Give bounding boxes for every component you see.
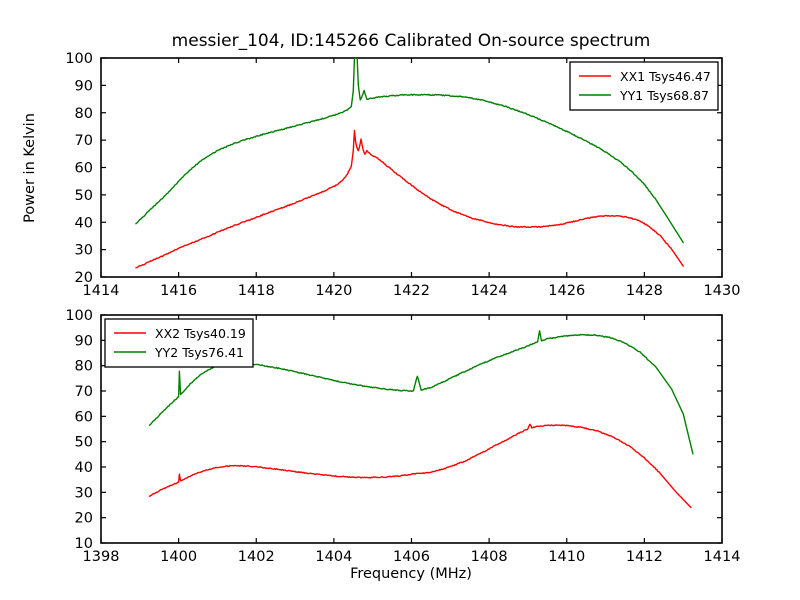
x-tick-label: 1428 (626, 283, 663, 299)
page-title: messier_104, ID:145266 Calibrated On-sou… (172, 31, 651, 51)
y-tick-label: 40 (75, 215, 93, 231)
legend-bottom: XX2 Tsys40.19YY2 Tsys76.41 (105, 319, 253, 367)
y-tick-label: 100 (65, 51, 93, 67)
x-tick-label: 1420 (315, 283, 352, 299)
y-tick-label: 20 (75, 511, 93, 527)
x-tick-label: 1418 (238, 283, 275, 299)
y-tick-label: 90 (75, 78, 93, 94)
plot-canvas: messier_104, ID:145266 Calibrated On-sou… (0, 0, 800, 600)
x-tick-label: 1404 (315, 549, 352, 565)
x-tick-label: 1412 (626, 549, 663, 565)
x-axis-label: Frequency (MHz) (350, 566, 472, 582)
x-tick-label: 1422 (393, 283, 430, 299)
legend-label: XX1 Tsys46.47 (620, 69, 711, 84)
x-tick-label: 1414 (704, 549, 741, 565)
x-tick-label: 1424 (471, 283, 508, 299)
legend-label: YY1 Tsys68.87 (619, 88, 709, 103)
x-tick-label: 1410 (548, 549, 585, 565)
y-tick-label: 90 (75, 333, 93, 349)
legend-top: XX1 Tsys46.47YY1 Tsys68.87 (570, 62, 718, 110)
y-tick-label: 70 (75, 384, 93, 400)
legend-label: XX2 Tsys40.19 (155, 326, 246, 341)
y-tick-label: 100 (65, 308, 93, 324)
x-tick-label: 1416 (160, 283, 197, 299)
y-axis-label: Power in Kelvin (22, 113, 38, 223)
y-tick-label: 80 (75, 106, 93, 122)
y-tick-label: 30 (75, 485, 93, 501)
y-tick-label: 10 (75, 536, 93, 552)
x-tick-label: 1400 (160, 549, 197, 565)
y-tick-label: 40 (75, 460, 93, 476)
x-tick-label: 1426 (548, 283, 585, 299)
y-tick-label: 80 (75, 359, 93, 375)
x-tick-label: 1402 (238, 549, 275, 565)
y-tick-label: 20 (75, 270, 93, 286)
y-tick-label: 60 (75, 161, 93, 177)
y-tick-label: 60 (75, 409, 93, 425)
y-tick-label: 30 (75, 243, 93, 259)
y-tick-label: 50 (75, 435, 93, 451)
x-tick-label: 1408 (471, 549, 508, 565)
x-tick-label: 1430 (704, 283, 741, 299)
spectrum-figure: messier_104, ID:145266 Calibrated On-sou… (0, 0, 800, 600)
x-tick-label: 1406 (393, 549, 430, 565)
legend-label: YY2 Tsys76.41 (154, 345, 244, 360)
y-tick-label: 50 (75, 188, 93, 204)
y-tick-label: 70 (75, 133, 93, 149)
